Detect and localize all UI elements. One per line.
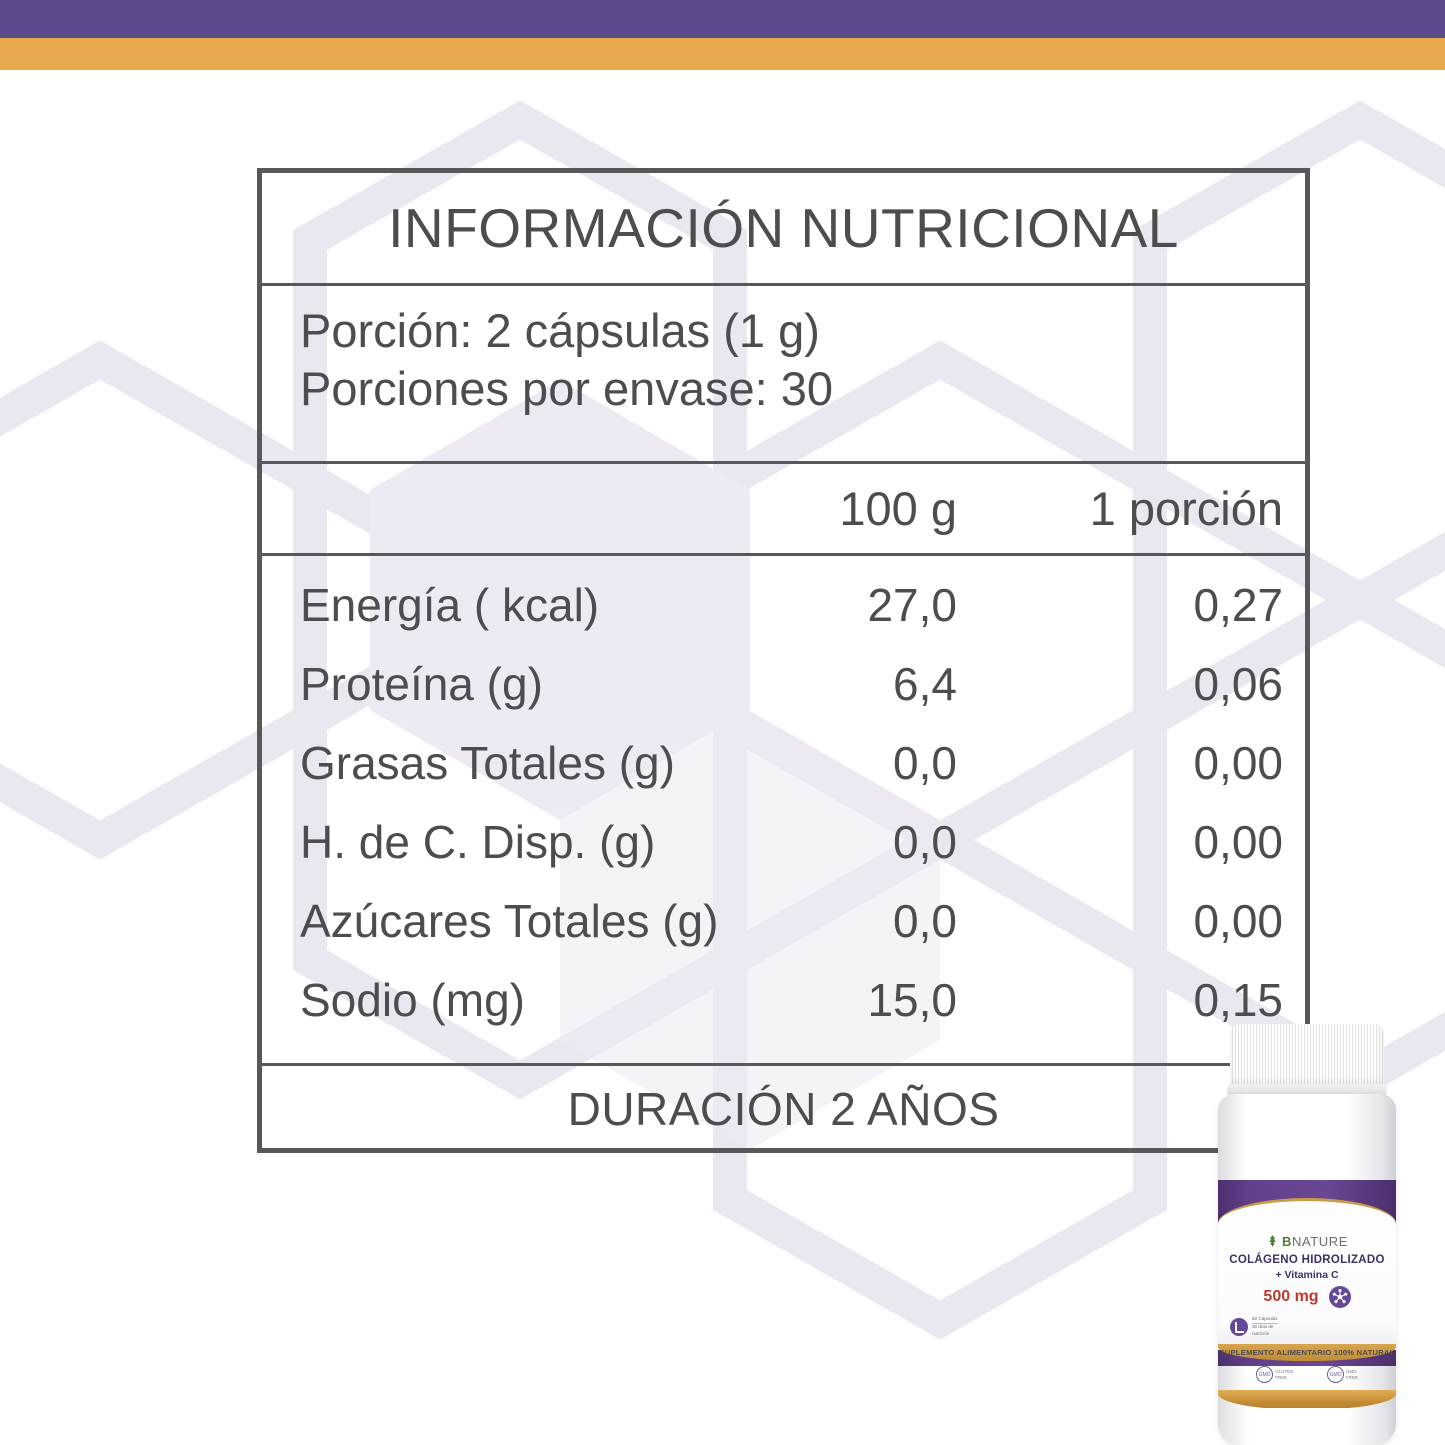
portion-line: Porción: 2 cápsulas (1 g) — [300, 302, 1305, 360]
label-gold-base-band — [1218, 1390, 1396, 1410]
column-header-per-100g: 100 g — [723, 481, 975, 536]
serving-info-row: Porción: 2 cápsulas (1 g) Porciones por … — [262, 286, 1305, 464]
nutrient-value-100g: 27,0 — [723, 578, 975, 632]
bottle-body: BNATURE COLÁGENO HIDROLIZADO + Vitamina … — [1218, 1094, 1396, 1445]
table-row: Sodio (mg) 15,0 0,15 — [262, 973, 1305, 1052]
nutrient-value-portion: 0,00 — [975, 815, 1305, 869]
nutrient-rows: Energía ( kcal) 27,0 0,27 Proteína (g) 6… — [262, 556, 1305, 1066]
days-line-1: 30 días de — [1252, 1324, 1278, 1331]
gmo-free-icon: GMO — [1327, 1366, 1344, 1383]
servings-per-container-line: Porciones por envase: 30 — [300, 360, 1305, 418]
bottle-base — [1218, 1408, 1396, 1445]
nutrient-value-100g: 0,0 — [723, 815, 975, 869]
top-purple-bar — [0, 0, 1445, 38]
dose-row: 500 mg — [1218, 1286, 1396, 1308]
page-title: INFORMACIÓN NUTRICIONAL — [388, 196, 1179, 260]
gluten-free-icon: GMO — [1256, 1366, 1273, 1383]
supplement-statement: SUPLEMENTO ALIMENTARIO 100% NATURAL — [1218, 1348, 1396, 1357]
product-subtitle: + Vitamina C — [1218, 1269, 1396, 1281]
nutrient-value-portion: 0,27 — [975, 578, 1305, 632]
nutrient-value-100g: 0,0 — [723, 736, 975, 790]
brand-initial: B — [1282, 1234, 1292, 1249]
brand-rest: NATURE — [1292, 1234, 1348, 1249]
gmo-free-label: GMO FREE — [1346, 1369, 1358, 1380]
gmo-free-label-line1: GMO — [1346, 1369, 1358, 1375]
product-bottle: BNATURE COLÁGENO HIDROLIZADO + Vitamina … — [1212, 1024, 1402, 1445]
table-row: Grasas Totales (g) 0,0 0,00 — [262, 736, 1305, 815]
nutrient-value-portion: 0,00 — [975, 894, 1305, 948]
nutrient-label: Proteína (g) — [300, 657, 723, 711]
nutrient-value-portion: 0,15 — [975, 973, 1305, 1027]
bottle-cap — [1230, 1024, 1384, 1088]
top-gold-bar — [0, 38, 1445, 70]
table-row: Proteína (g) 6,4 0,06 — [262, 657, 1305, 736]
table-row: Energía ( kcal) 27,0 0,27 — [262, 578, 1305, 657]
dose-amount: 500 mg — [1263, 1288, 1318, 1306]
table-footer-row: DURACIÓN 2 AÑOS — [262, 1066, 1305, 1151]
nutrient-value-100g: 6,4 — [723, 657, 975, 711]
product-name: COLÁGENO HIDROLIZADO — [1218, 1254, 1396, 1266]
nutrient-label: Sodio (mg) — [300, 973, 723, 1027]
nutrition-facts-table: INFORMACIÓN NUTRICIONAL Porción: 2 cápsu… — [257, 168, 1310, 1153]
nutrient-value-portion: 0,00 — [975, 736, 1305, 790]
gluten-free-label: GLUTEN FREE — [1275, 1369, 1293, 1380]
nutrient-label: Grasas Totales (g) — [300, 736, 723, 790]
table-row: H. de C. Disp. (g) 0,0 0,00 — [262, 815, 1305, 894]
table-title-row: INFORMACIÓN NUTRICIONAL — [262, 173, 1305, 286]
gmo-free-label-line2: FREE — [1346, 1375, 1358, 1381]
column-header-per-portion: 1 porción — [975, 481, 1305, 536]
gluten-free-label-line1: GLUTEN — [1275, 1369, 1293, 1375]
gluten-free-seal: GMO GLUTEN FREE — [1256, 1366, 1293, 1383]
brand-logo: BNATURE — [1218, 1232, 1396, 1251]
capsule-badge-icon — [1230, 1318, 1248, 1336]
tree-icon — [1266, 1232, 1279, 1251]
nutrient-label: Energía ( kcal) — [300, 578, 723, 632]
nutrient-label: H. de C. Disp. (g) — [300, 815, 723, 869]
nutrient-value-portion: 0,06 — [975, 657, 1305, 711]
brand-name: BNATURE — [1282, 1234, 1348, 1249]
nutrition-label-page: INFORMACIÓN NUTRICIONAL Porción: 2 cápsu… — [0, 0, 1445, 1445]
nutrient-value-100g: 0,0 — [723, 894, 975, 948]
duration-text: DURACIÓN 2 AÑOS — [568, 1082, 1000, 1136]
molecule-icon — [1329, 1286, 1351, 1308]
table-row: Azúcares Totales (g) 0,0 0,00 — [262, 894, 1305, 973]
nutrient-value-100g: 15,0 — [723, 973, 975, 1027]
certification-seals: GMO GLUTEN FREE GMO GMO FREE — [1218, 1366, 1396, 1383]
table-header-row: 100 g 1 porción — [262, 464, 1305, 556]
nutrient-label: Azúcares Totales (g) — [300, 894, 723, 948]
capsule-count-text: 60 Cápsulas 30 días de nutrición — [1252, 1316, 1278, 1338]
capsule-count-info: 60 Cápsulas 30 días de nutrición — [1230, 1316, 1278, 1338]
gmo-free-seal: GMO GMO FREE — [1327, 1366, 1358, 1383]
gluten-free-label-line2: FREE — [1275, 1375, 1293, 1381]
capsule-count-line: 60 Cápsulas — [1252, 1316, 1278, 1324]
days-line-2: nutrición — [1252, 1331, 1278, 1338]
